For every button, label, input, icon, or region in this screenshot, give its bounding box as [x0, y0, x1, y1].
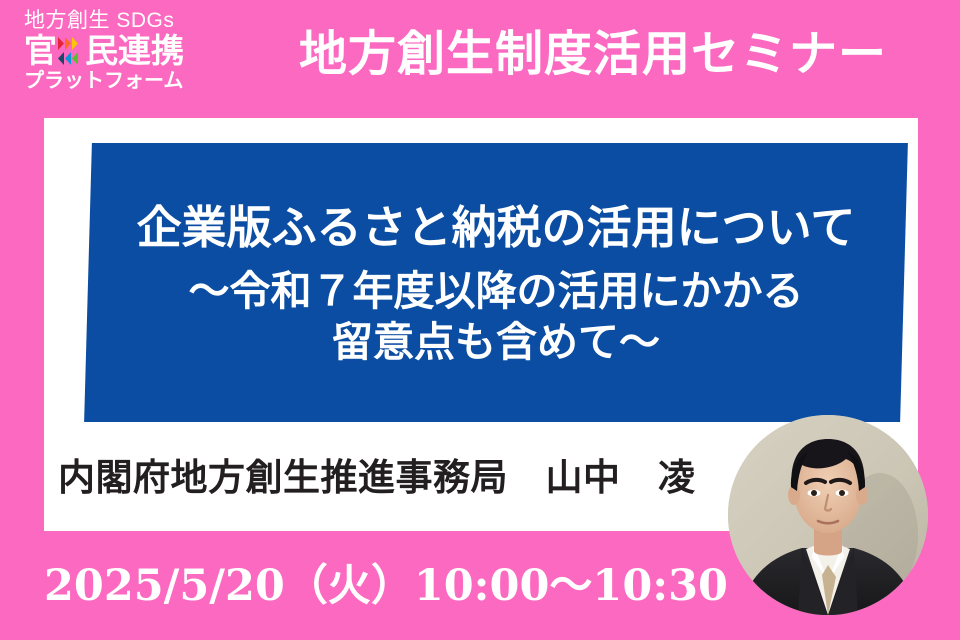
- headline-line-1: 企業版ふるさと納税の活用について: [137, 201, 856, 256]
- logo-kanji-minrenkei: 民連携: [85, 34, 184, 67]
- page-title: 地方創生制度活用セミナー: [248, 28, 938, 81]
- headline-line-2: 〜令和７年度以降の活用にかかる: [189, 266, 804, 317]
- headline-line-3: 留意点も含めて〜: [332, 317, 660, 368]
- speaker-portrait: [728, 415, 928, 615]
- arrows-left-row: [58, 51, 84, 66]
- logo-line-sdgs: 地方創生 SDGs: [24, 10, 214, 31]
- headline-panel: 企業版ふるさと納税の活用について 〜令和７年度以降の活用にかかる 留意点も含めて…: [84, 143, 908, 422]
- seminar-poster: 地方創生 SDGs 官: [0, 0, 960, 640]
- logo-line-kanmin: 官 民連携: [24, 34, 214, 67]
- collaboration-arrows-icon: [58, 35, 84, 67]
- logo-line-platform: プラットフォーム: [24, 71, 214, 91]
- arrows-right-row: [58, 36, 84, 51]
- speaker-affiliation-name: 内閣府地方創生推進事務局 山中 凌: [58, 447, 696, 501]
- logo-kanji-kan: 官: [24, 34, 57, 67]
- schedule-datetime: 2025/5/20（火）10:00〜10:30: [44, 551, 728, 613]
- platform-logo: 地方創生 SDGs 官: [24, 10, 214, 91]
